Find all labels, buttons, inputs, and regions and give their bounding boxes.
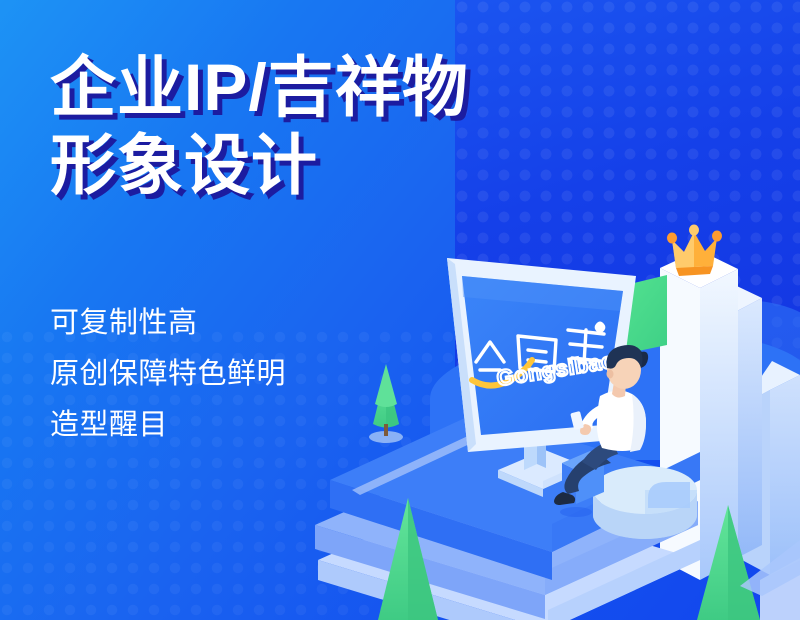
promo-banner: Gongsibao xyxy=(0,0,800,620)
feature-item-1: 可复制性高 xyxy=(50,298,470,349)
headline-line-2: 形象设计 xyxy=(50,128,318,202)
feature-item-2: 原创保障特色鲜明 xyxy=(50,349,470,400)
feature-item-3: 造型醒目 xyxy=(50,400,470,451)
headline-line-1: 企业IP/吉祥物 xyxy=(50,50,469,124)
rounded-accent xyxy=(648,482,690,508)
feature-list: 可复制性高 原创保障特色鲜明 造型醒目 xyxy=(50,298,470,451)
page-title: 企业IP/吉祥物形象设计 xyxy=(50,48,650,204)
